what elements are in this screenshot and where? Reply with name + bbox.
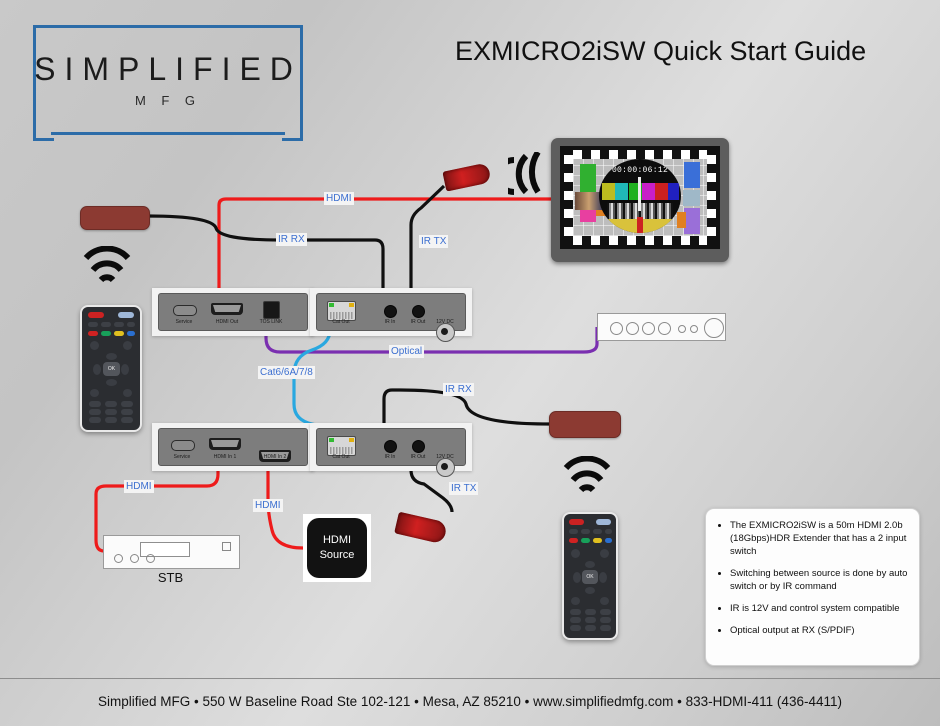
- remote2-key-3[interactable]: [600, 609, 611, 615]
- stb-button-1[interactable]: [114, 554, 123, 563]
- avr-led-1: [678, 325, 686, 333]
- hdmi-in-1-port-icon[interactable]: [209, 438, 241, 450]
- ir-receiver-top-icon: [80, 206, 150, 230]
- remote-key-2[interactable]: [105, 401, 117, 407]
- info-bullet-2: IR is 12V and control system compatible: [730, 602, 909, 615]
- remote-back-button[interactable]: [123, 341, 132, 350]
- product-info-box: The EXMICRO2iSW is a 50m HDMI 2.0b (18Gb…: [705, 508, 920, 666]
- remote-key-5[interactable]: [105, 409, 117, 415]
- rj45-port-icon[interactable]: [327, 301, 356, 321]
- ir-out-jack-icon[interactable]: [412, 305, 425, 318]
- port-label-ir-out-tx: IR Out: [411, 454, 425, 460]
- cable-hdmi-rx-to-tv: [219, 199, 552, 293]
- remote-key-7[interactable]: [89, 417, 101, 423]
- hdmi-source-device: HDMI Source: [303, 514, 371, 582]
- port-label-toslink: TOS LINK: [260, 319, 283, 325]
- cable-label-hdmi-top: HDMI: [324, 192, 354, 205]
- remote-key-1[interactable]: [89, 401, 101, 407]
- logo-subtitle: M F G: [33, 93, 303, 108]
- remote-key-8[interactable]: [105, 417, 117, 423]
- remote2-dpad-left[interactable]: [573, 572, 581, 583]
- ir-in-jack-icon[interactable]: [384, 440, 397, 453]
- remote2-key-5[interactable]: [585, 617, 596, 623]
- remote-dpad-up[interactable]: [106, 353, 117, 360]
- ir-emitter-top-icon: [442, 162, 491, 191]
- tv-checker-bottom: [564, 236, 716, 245]
- tv-colorbar-4: [655, 183, 668, 200]
- tv-bezel: 00:00:06:12 TEST CHANNEL HD: [560, 146, 720, 249]
- remote2-fn-button-1[interactable]: [569, 529, 578, 534]
- remote-dpad-down[interactable]: [106, 379, 117, 386]
- tv-checker-top: [564, 150, 716, 159]
- ir-receiver-waves-bottom-icon: [560, 456, 614, 496]
- rj45-pins: [330, 447, 353, 454]
- remote-color-red[interactable]: [88, 331, 98, 336]
- port-label-ir-out-rx: IR Out: [411, 319, 425, 325]
- tv-colorbar-1: [615, 183, 628, 200]
- hdmi-source-inner: HDMI Source: [307, 518, 367, 578]
- ir-in-jack-icon[interactable]: [384, 305, 397, 318]
- remote2-menu-button[interactable]: [571, 549, 580, 558]
- rj45-port-icon[interactable]: [327, 436, 356, 456]
- remote2-info-button[interactable]: [600, 597, 609, 605]
- remote2-mute-button[interactable]: [596, 519, 611, 525]
- tx-device-right-panel: Cat Out IR In IR Out 12V DC: [310, 423, 472, 471]
- cable-label-ir-rx-bottom: IR RX: [443, 383, 474, 396]
- tv-crosshair-v: [638, 177, 641, 211]
- port-label-12v-rx: 12V DC: [436, 319, 454, 325]
- logo-bottom-rule: [51, 132, 285, 135]
- ir-emitter-bottom-icon: [394, 512, 448, 545]
- remote-fn-button-1[interactable]: [88, 322, 98, 327]
- tv-patch-sky: [683, 190, 700, 206]
- tv-checker-left: [564, 150, 573, 245]
- cable-label-cat: Cat6/6A/7/8: [258, 366, 315, 379]
- remote2-color-blue[interactable]: [605, 538, 612, 543]
- remote2-fn-button-4[interactable]: [605, 529, 612, 534]
- stb-button-3[interactable]: [146, 554, 155, 563]
- remote2-color-green[interactable]: [581, 538, 590, 543]
- company-logo: SIMPLIFIED M F G: [33, 25, 303, 135]
- cable-ir-rx-top: [148, 216, 383, 293]
- cable-label-ir-tx-bottom: IR TX: [449, 482, 478, 495]
- rx-device-chassis: Service HDMI Out TOS LINK: [158, 293, 308, 331]
- remote-key-9[interactable]: [121, 417, 133, 423]
- ir-remote-control-top[interactable]: OK: [80, 305, 142, 432]
- remote-color-blue[interactable]: [127, 331, 135, 336]
- tv-patch-green: [580, 164, 596, 192]
- tv-colorbar-3: [642, 183, 655, 200]
- rx-device-right-panel: Cat Out IR In IR Out 12V DC: [310, 288, 472, 336]
- rj45-pins: [330, 312, 353, 319]
- stb-label: STB: [103, 570, 238, 585]
- remote-key-6[interactable]: [121, 409, 133, 415]
- port-label-12v-tx: 12V DC: [436, 454, 454, 460]
- port-label-service-rx: Service: [176, 319, 193, 325]
- remote-dpad-right[interactable]: [121, 364, 129, 375]
- port-label-ir-in-rx: IR In: [385, 319, 396, 325]
- tv-test-pattern: 00:00:06:12 TEST CHANNEL HD: [564, 150, 716, 245]
- tv-timecode: 00:00:06:12: [599, 166, 681, 175]
- hdmi-source-line-2: Source: [320, 548, 355, 563]
- rx-device-chassis-right: Cat Out IR In IR Out 12V DC: [316, 293, 466, 331]
- logo-wordmark: SIMPLIFIED: [33, 51, 303, 88]
- info-bullet-0: The EXMICRO2iSW is a 50m HDMI 2.0b (18Gb…: [730, 519, 909, 558]
- cable-label-ir-tx-top: IR TX: [419, 235, 448, 248]
- remote2-ok-button[interactable]: OK: [582, 570, 598, 584]
- ir-out-jack-icon[interactable]: [412, 440, 425, 453]
- port-label-hdmi-in-2: HDMI In 2: [264, 454, 287, 460]
- avr-knob-1[interactable]: [610, 322, 623, 335]
- quick-start-guide-page: SIMPLIFIED M F G EXMICRO2iSW Quick Start…: [0, 0, 940, 726]
- remote-color-yellow[interactable]: [114, 331, 124, 336]
- cable-label-hdmi-source: HDMI: [253, 499, 283, 512]
- remote-mute-button[interactable]: [118, 312, 134, 318]
- cable-label-optical: Optical: [389, 345, 424, 358]
- remote-power-button[interactable]: [88, 312, 104, 318]
- footer-contact-text: Simplified MFG • 550 W Baseline Road Ste…: [0, 694, 940, 709]
- logo-top-rule: [51, 25, 285, 28]
- hdmi-source-line-1: HDMI: [323, 533, 351, 548]
- remote2-dpad-right[interactable]: [599, 572, 607, 583]
- toslink-port-icon[interactable]: [263, 301, 280, 319]
- rx-device-left-panel: Service HDMI Out TOS LINK: [152, 288, 314, 336]
- remote-fn-button-2[interactable]: [101, 322, 111, 327]
- hdmi-port-icon[interactable]: [211, 303, 243, 315]
- remote-fn-button-4[interactable]: [127, 322, 135, 327]
- remote2-fn-button-2[interactable]: [581, 529, 590, 534]
- product-info-list: The EXMICRO2iSW is a 50m HDMI 2.0b (18Gb…: [712, 519, 909, 637]
- remote2-power-button[interactable]: [569, 519, 584, 525]
- page-title: EXMICRO2iSW Quick Start Guide: [455, 36, 866, 67]
- remote2-back-button[interactable]: [600, 549, 609, 558]
- stb-button-2[interactable]: [130, 554, 139, 563]
- av-receiver: [597, 313, 726, 341]
- television-display: 00:00:06:12 TEST CHANNEL HD: [551, 138, 729, 262]
- tv-colorbar-0: [602, 183, 615, 200]
- ir-receiver-bottom-icon: [549, 411, 621, 438]
- info-bullet-3: Optical output at RX (S/PDIF): [730, 624, 909, 637]
- tv-colorbar-5: [668, 183, 679, 200]
- remote2-color-red[interactable]: [569, 538, 578, 543]
- remote-color-green[interactable]: [101, 331, 111, 336]
- remote-info-button[interactable]: [123, 389, 132, 397]
- remote-key-3[interactable]: [121, 401, 133, 407]
- port-label-ir-in-tx: IR In: [385, 454, 396, 460]
- remote-fn-button-3[interactable]: [114, 322, 124, 327]
- cable-label-ir-rx-top: IR RX: [276, 233, 307, 246]
- port-label-hdmi-in-1: HDMI In 1: [214, 454, 237, 460]
- ir-receiver-waves-top-icon: [80, 246, 134, 286]
- usb-micro-port-icon[interactable]: [171, 440, 195, 451]
- remote2-dpad-down[interactable]: [585, 587, 595, 594]
- remote-vol-button[interactable]: [90, 389, 99, 397]
- tx-device-left-panel: Service HDMI In 1 HDMI In 2: [152, 423, 314, 471]
- remote-menu-button[interactable]: [90, 341, 99, 350]
- remote2-dpad-up[interactable]: [585, 561, 595, 568]
- tv-patch-violet: [684, 208, 700, 234]
- avr-volume-knob[interactable]: [704, 318, 724, 338]
- dc-power-jack-icon[interactable]: [436, 323, 455, 342]
- port-label-cat-out-rx: Cat Out: [332, 319, 349, 325]
- footer-divider: [0, 678, 940, 679]
- tv-checker-right: [707, 150, 716, 245]
- dc-power-jack-icon[interactable]: [436, 458, 455, 477]
- port-label-service-tx: Service: [174, 454, 191, 460]
- avr-knob-4[interactable]: [658, 322, 671, 335]
- remote2-key-1[interactable]: [570, 609, 581, 615]
- remote2-key-9[interactable]: [600, 625, 611, 631]
- set-top-box: [103, 535, 240, 569]
- remote2-color-yellow[interactable]: [593, 538, 602, 543]
- usb-micro-port-icon[interactable]: [173, 305, 197, 316]
- info-bullet-1: Switching between source is done by auto…: [730, 567, 909, 593]
- tv-red-marker: [637, 217, 644, 233]
- remote2-key-7[interactable]: [570, 625, 581, 631]
- remote-ok-button[interactable]: OK: [103, 362, 120, 376]
- remote-key-4[interactable]: [89, 409, 101, 415]
- remote2-key-2[interactable]: [585, 609, 596, 615]
- avr-led-2: [690, 325, 698, 333]
- ir-remote-control-bottom[interactable]: OK: [562, 512, 618, 640]
- tx-device-chassis-right: Cat Out IR In IR Out 12V DC: [316, 428, 466, 466]
- port-label-hdmi-out: HDMI Out: [216, 319, 238, 325]
- tv-center-circle: 00:00:06:12 TEST CHANNEL HD: [599, 159, 681, 233]
- tx-device-chassis: Service HDMI In 1 HDMI In 2: [158, 428, 308, 466]
- remote2-fn-button-3[interactable]: [593, 529, 602, 534]
- remote-dpad-left[interactable]: [93, 364, 101, 375]
- remote2-key-4[interactable]: [570, 617, 581, 623]
- port-label-cat-out-tx: Cat Out: [332, 454, 349, 460]
- cable-label-hdmi-stb: HDMI: [124, 480, 154, 493]
- avr-knob-3[interactable]: [642, 322, 655, 335]
- avr-knob-2[interactable]: [626, 322, 639, 335]
- tv-patch-blue: [684, 162, 700, 188]
- ir-signal-waves-top-icon: [508, 152, 552, 196]
- remote2-vol-button[interactable]: [571, 597, 580, 605]
- tv-stand: [551, 249, 729, 262]
- remote2-key-8[interactable]: [585, 625, 596, 631]
- remote2-key-6[interactable]: [600, 617, 611, 623]
- stb-indicator: [222, 542, 231, 551]
